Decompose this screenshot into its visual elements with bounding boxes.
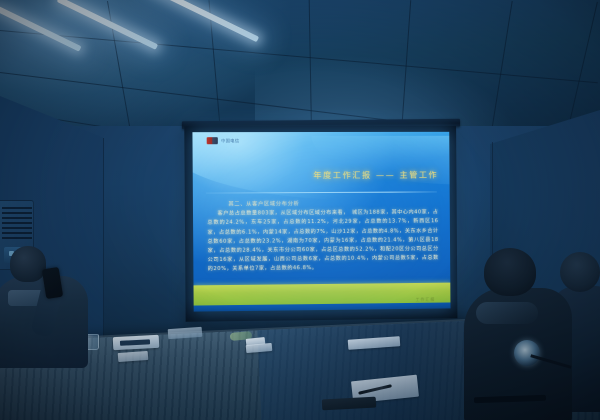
slide-subheading: 其二、从客户区域分布分析 bbox=[228, 199, 438, 207]
slide-title: 年度工作汇报 —— 主管工作 bbox=[313, 169, 438, 181]
company-logo-icon bbox=[207, 138, 218, 145]
conference-room-scene: 中国电信 年度工作汇报 —— 主管工作 其二、从客户区域分布分析 客户总占总数量… bbox=[0, 0, 600, 420]
projection-screen-surface: 中国电信 年度工作汇报 —— 主管工作 其二、从客户区域分布分析 客户总占总数量… bbox=[192, 132, 450, 312]
attendee-left bbox=[0, 246, 100, 366]
projection-screen-frame: 中国电信 年度工作汇报 —— 主管工作 其二、从客户区域分布分析 客户总占总数量… bbox=[184, 126, 457, 322]
phone-on-table[interactable] bbox=[113, 335, 160, 350]
fluorescent-tube-light bbox=[149, 0, 259, 42]
attendee-left-phone-icon bbox=[42, 267, 63, 299]
slide-logo-text: 中国电信 bbox=[221, 138, 240, 144]
attendee-right-front-badge bbox=[514, 340, 540, 366]
attendee-right-front-head bbox=[484, 248, 536, 296]
wall-corner-seam bbox=[103, 138, 104, 353]
fluorescent-tube-light bbox=[0, 4, 82, 51]
presentation-slide: 中国电信 年度工作汇报 —— 主管工作 其二、从客户区域分布分析 客户总占总数量… bbox=[192, 132, 450, 312]
attendee-right-front-shoulder-highlight bbox=[476, 302, 538, 324]
attendee-left-head bbox=[10, 246, 46, 282]
slide-body: 其二、从客户区域分布分析 客户总占总数量803家，从区域分布区域分布来看， 城区… bbox=[207, 199, 439, 275]
ceiling-grid-line bbox=[488, 1, 512, 142]
slide-paragraph: 客户总占总数量803家，从区域分布区域分布来看， 城区为188家，其中心内40家… bbox=[207, 208, 439, 274]
attendee-right-front bbox=[468, 248, 586, 420]
slide-logo: 中国电信 bbox=[207, 137, 240, 144]
air-vent-slats bbox=[2, 207, 32, 241]
ceiling-grid-line bbox=[0, 30, 598, 83]
